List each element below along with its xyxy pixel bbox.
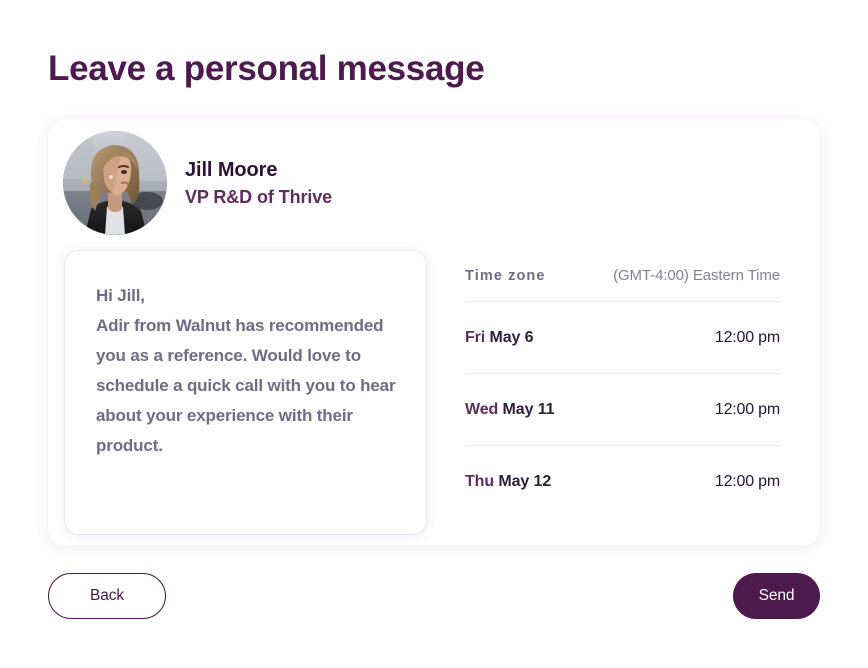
slot-time: 12:00 pm <box>715 401 780 419</box>
slot-date-value: May 6 <box>490 329 534 346</box>
slot-time: 12:00 pm <box>715 473 780 491</box>
slot-day: Fri <box>465 329 485 346</box>
avatar <box>63 131 167 235</box>
message-card: Jill Moore VP R&D of Thrive Hi Jill, Adi… <box>48 119 820 546</box>
schedule-slot-row[interactable]: Thu May 12 12:00 pm <box>465 446 780 518</box>
profile-role: VP R&D of Thrive <box>185 188 332 208</box>
personal-message-box[interactable]: Hi Jill, Adir from Walnut has recommende… <box>65 251 426 534</box>
user-photo-avatar-icon <box>63 131 167 235</box>
schedule-slot-row[interactable]: Fri May 6 12:00 pm <box>465 302 780 374</box>
page-title: Leave a personal message <box>48 48 484 89</box>
slot-time: 12:00 pm <box>715 329 780 347</box>
profile-header: Jill Moore VP R&D of Thrive <box>63 131 332 235</box>
slot-date-value: May 12 <box>498 473 551 490</box>
schedule-slot-row[interactable]: Wed May 11 12:00 pm <box>465 374 780 446</box>
timezone-value: (GMT-4:00) Eastern Time <box>613 267 780 284</box>
timezone-row: Time zone (GMT-4:00) Eastern Time <box>465 267 780 302</box>
slot-day: Thu <box>465 473 494 490</box>
slot-day: Wed <box>465 401 498 418</box>
back-button[interactable]: Back <box>48 573 166 619</box>
slot-date: Fri May 6 <box>465 329 534 347</box>
profile-text: Jill Moore VP R&D of Thrive <box>185 159 332 208</box>
personal-message-text[interactable]: Hi Jill, Adir from Walnut has recommende… <box>96 281 398 461</box>
slot-date-value: May 11 <box>503 401 555 418</box>
leave-message-page: Leave a personal message <box>0 0 868 668</box>
slot-date: Thu May 12 <box>465 473 551 491</box>
send-button[interactable]: Send <box>733 573 820 619</box>
slot-date: Wed May 11 <box>465 401 554 419</box>
profile-name: Jill Moore <box>185 159 332 181</box>
schedule-panel: Time zone (GMT-4:00) Eastern Time Fri Ma… <box>465 267 780 518</box>
timezone-label: Time zone <box>465 268 546 284</box>
